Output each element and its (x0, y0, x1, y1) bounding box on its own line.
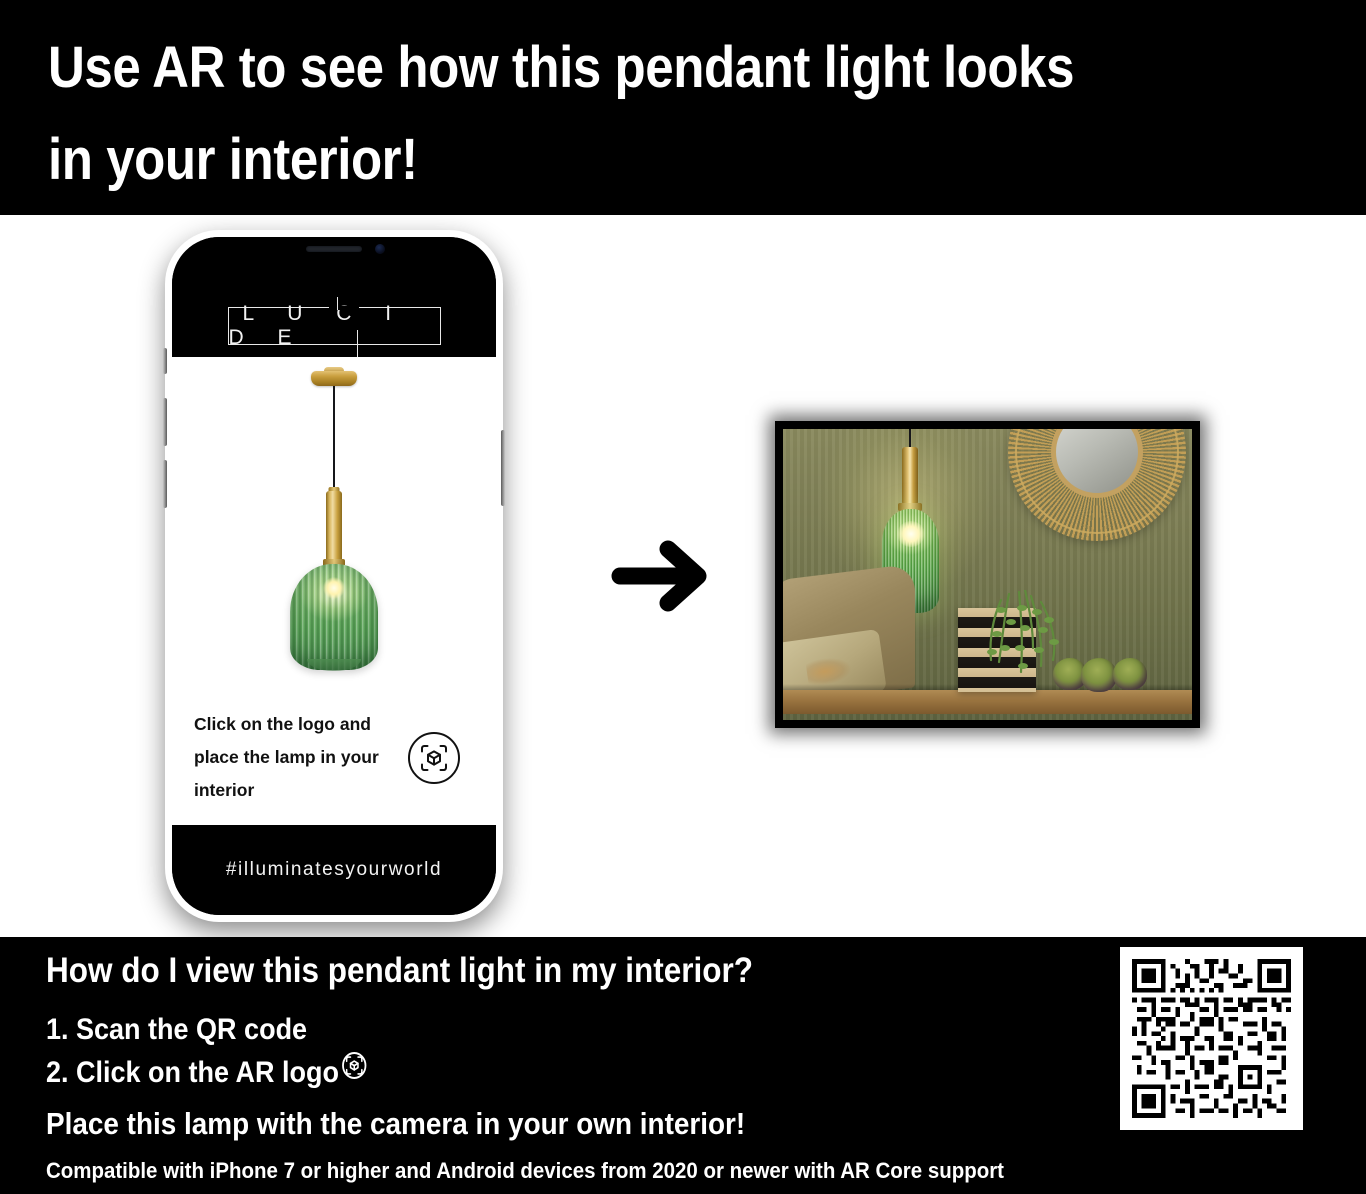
page-title: Use AR to see how this pendant light loo… (48, 22, 1174, 206)
interior-photo-frame (775, 421, 1200, 728)
phone-volume-down-button (163, 460, 167, 508)
ar-cube-glyph (419, 743, 449, 773)
qr-code[interactable] (1120, 947, 1303, 1130)
logo-c-stem (337, 297, 339, 310)
artichoke-decor (1081, 658, 1117, 692)
step-2-click-ar-logo: 2. Click on the AR logo (46, 1056, 366, 1090)
phone-screen: L U C I D E Click on the logo a (172, 237, 496, 915)
ar-cube-icon[interactable] (408, 732, 460, 784)
visual-stage: L U C I D E Click on the logo a (0, 215, 1366, 937)
room-lamp-bulb-glow (897, 521, 925, 547)
ar-cube-icon (342, 1052, 366, 1079)
pendant-lamp-product-image (269, 371, 399, 671)
compatibility-note: Compatible with iPhone 7 or higher and A… (46, 1158, 1004, 1184)
place-lamp-line: Place this lamp with the camera in your … (46, 1106, 745, 1142)
lamp-cord (333, 386, 335, 494)
lamp-brass-stem (326, 491, 342, 563)
room-lamp-cord (909, 429, 911, 447)
room-lamp-brass-stem (902, 447, 918, 505)
logo-i-stem (357, 330, 359, 358)
earpiece-speaker-icon (306, 246, 362, 252)
product-view: Click on the logo and place the lamp in … (172, 357, 496, 825)
header-banner: Use AR to see how this pendant light loo… (0, 0, 1366, 215)
qr-code-graphic (1132, 959, 1291, 1118)
brand-hashtag: #illuminatesyourworld (226, 859, 442, 881)
ar-cube-glyph (344, 1054, 365, 1077)
phone-volume-up-button (163, 398, 167, 446)
ar-instruction-row: Click on the logo and place the lamp in … (194, 708, 478, 807)
app-footer: #illuminatesyourworld (172, 825, 496, 915)
logo-notch-cut (329, 306, 359, 310)
footer-instructions: How do I view this pendant light in my i… (0, 937, 1366, 1194)
phone-mockup: L U C I D E Click on the logo a (165, 230, 503, 922)
lucide-logo[interactable]: L U C I D E (228, 307, 441, 345)
ar-instruction-text: Click on the logo and place the lamp in … (194, 708, 394, 807)
lamp-ceiling-canopy (311, 371, 357, 386)
footer-question: How do I view this pendant light in my i… (46, 951, 753, 991)
front-camera-icon (375, 244, 385, 254)
phone-notch (255, 237, 413, 264)
lamp-bulb-glow (323, 577, 345, 599)
right-arrow-icon (606, 537, 716, 615)
phone-power-button (501, 430, 505, 506)
artichoke-decor (1113, 658, 1147, 690)
phone-silence-switch (163, 348, 167, 374)
step-1-scan-qr: 1. Scan the QR code (46, 1013, 307, 1047)
interior-photo (783, 429, 1192, 720)
step-2-label: 2. Click on the AR logo (46, 1056, 339, 1090)
right-arrow-glyph (606, 537, 716, 615)
